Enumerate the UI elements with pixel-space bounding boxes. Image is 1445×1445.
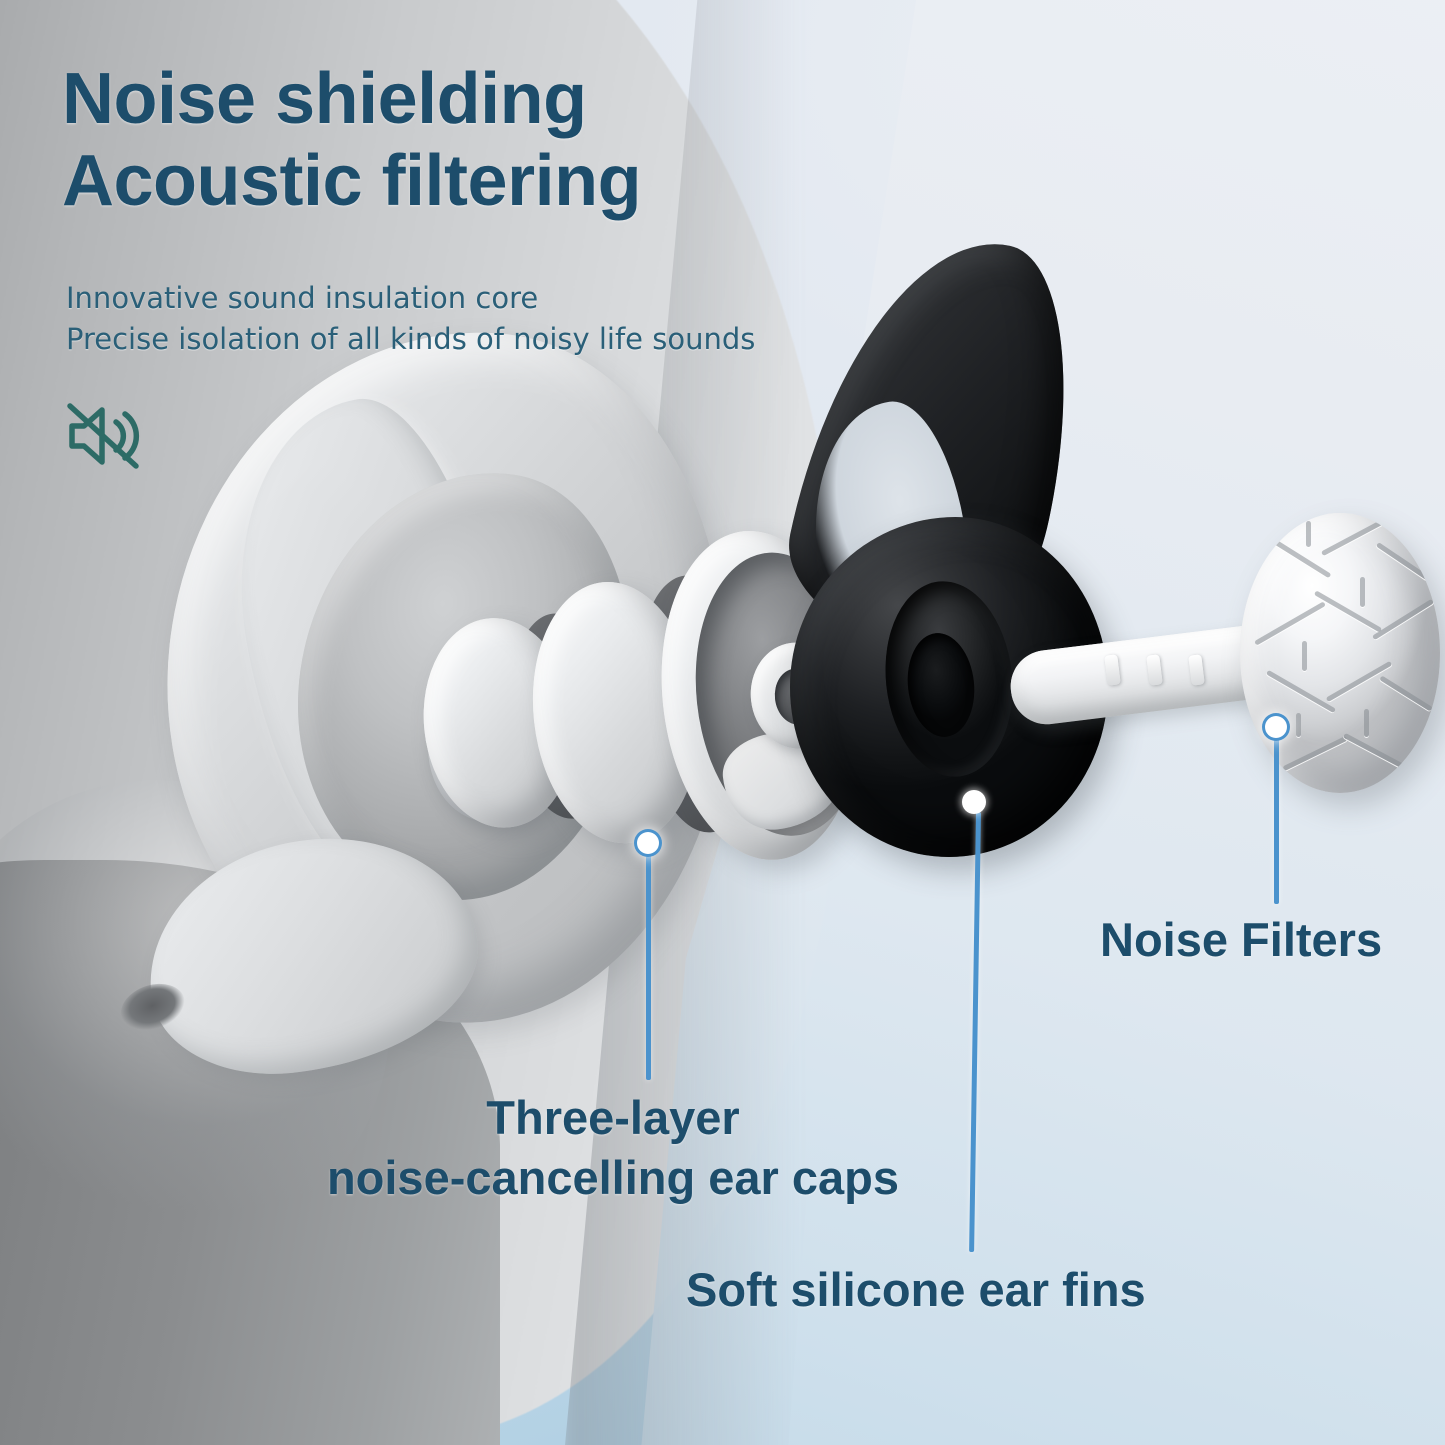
headline-line-1: Noise shielding xyxy=(62,59,587,139)
callout-dot-soft-silicone-fins xyxy=(962,790,986,814)
callout-dot-three-layer-caps xyxy=(637,832,659,854)
callout-label-noise-filters: Noise Filters xyxy=(1100,912,1382,967)
ear-canal-opening xyxy=(115,976,192,1040)
callout-label-soft-silicone-fins: Soft silicone ear fins xyxy=(686,1262,1146,1317)
subtitle-line-1: Innovative sound insulation core xyxy=(66,278,886,319)
headline-line-2: Acoustic filtering xyxy=(62,140,892,222)
page-title: Noise shielding Acoustic filtering xyxy=(62,58,892,222)
page-subtitle: Innovative sound insulation core Precise… xyxy=(66,278,886,360)
mute-speaker-icon xyxy=(62,396,148,476)
noise-filter-disc xyxy=(1240,513,1440,793)
leader-line-soft-silicone-fins xyxy=(969,812,981,1252)
callout-dot-noise-filters xyxy=(1265,716,1287,738)
callout-label-line-1: Three-layer xyxy=(288,1088,938,1148)
callout-label-three-layer-caps: Three-layer noise-cancelling ear caps xyxy=(288,1088,938,1208)
leader-line-three-layer-caps xyxy=(646,852,651,1080)
subtitle-line-2: Precise isolation of all kinds of noisy … xyxy=(66,319,886,360)
product-infographic-poster: Noise shielding Acoustic filtering Innov… xyxy=(0,0,1445,1445)
leader-line-noise-filters xyxy=(1274,738,1279,904)
noise-filter-part xyxy=(1090,505,1440,855)
callout-label-line-2: noise-cancelling ear caps xyxy=(288,1148,938,1208)
